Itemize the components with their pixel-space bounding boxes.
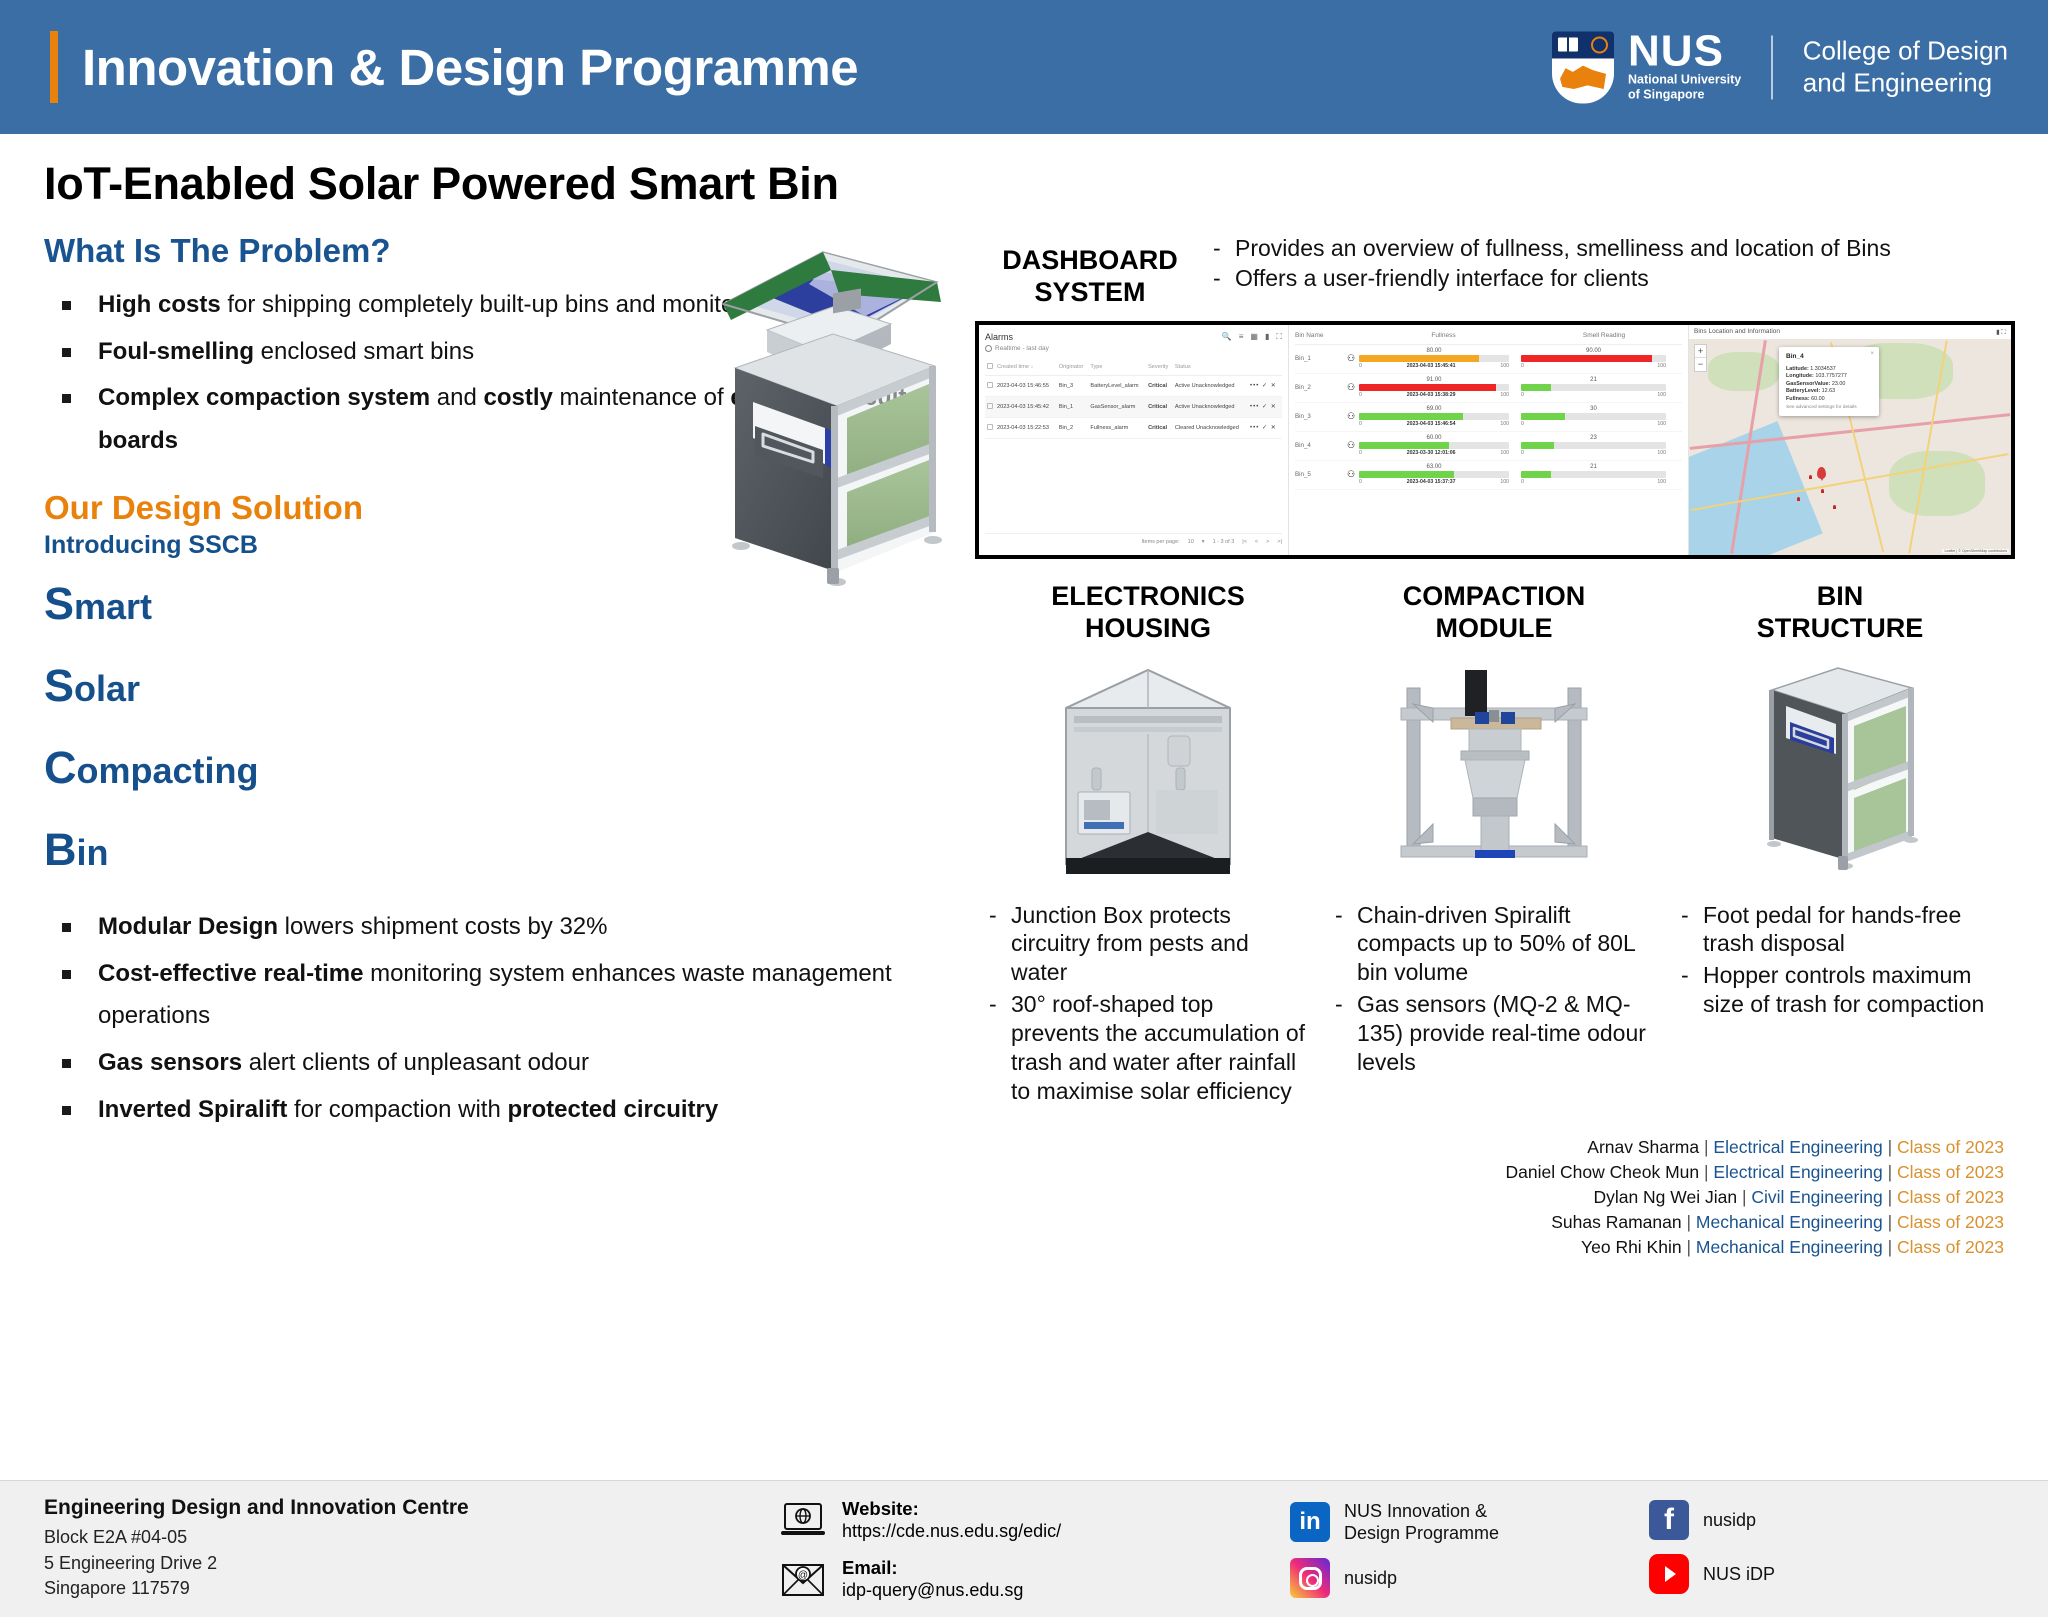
fullness-gauge: 69.0002023-04-03 15:46:54100	[1359, 406, 1509, 427]
author-dept: Civil Engineering	[1751, 1187, 1882, 1207]
module-title-line2: HOUSING	[989, 613, 1307, 645]
sscb-word: Solar	[44, 660, 945, 712]
footer-linkedin-label: NUS Innovation & Design Programme	[1344, 1500, 1499, 1545]
status-badge: Critical	[1146, 375, 1173, 396]
linkedin-line1: NUS Innovation &	[1344, 1500, 1499, 1522]
dashboard-title: DASHBOARD SYSTEM	[975, 230, 1205, 309]
list-item: Gas sensors alert clients of unpleasant …	[54, 1042, 945, 1085]
author-entry: Yeo Rhi Khin | Mechanical Engineering | …	[975, 1235, 2004, 1260]
module-bullets: -Chain-driven Spiralift compacts up to 5…	[1335, 901, 1653, 1078]
sscb-word: Bin	[44, 824, 945, 876]
author-dept: Electrical Engineering	[1713, 1162, 1882, 1182]
chevron-down-icon[interactable]: ▾	[1202, 539, 1205, 545]
alarms-panel: Alarms 🔍 ≡ ▦ ▮ ⛶ Realtime - last day Cre…	[979, 325, 1289, 555]
dashboard-bullet: -Offers a user-friendly interface for cl…	[1213, 264, 2028, 292]
footer-instagram-label: nusidp	[1344, 1567, 1397, 1589]
smell-gauge: 90.000100	[1521, 348, 1666, 369]
dash-marker: -	[1213, 234, 1223, 262]
footer-addr-line2: 5 Engineering Drive 2	[44, 1551, 780, 1577]
cell-originator: Bin_1	[1057, 396, 1089, 417]
bins-table-head: Bin Name Fullness Smell Reading	[1295, 332, 1682, 345]
header-title: Innovation & Design Programme	[82, 38, 858, 97]
nus-crest-icon	[1552, 31, 1614, 103]
alarms-column-header[interactable]: Type	[1088, 359, 1146, 376]
dashboard-bullet: -Provides an overview of fullness, smell…	[1213, 234, 2028, 262]
right-column: DASHBOARD SYSTEM -Provides an overview o…	[975, 210, 2048, 1448]
scale-max: 100	[1657, 421, 1666, 427]
reading-timestamp: 2023-04-03 15:38:29	[1407, 392, 1456, 398]
last-page-icon[interactable]: >|	[1277, 539, 1282, 545]
dash-marker: -	[1335, 901, 1345, 988]
fullness-value: 80.00	[1359, 348, 1509, 354]
cell-status: Cleared Unacknowledged	[1173, 417, 1248, 438]
columns-icon[interactable]: ▦	[1250, 332, 1258, 342]
popup-longitude: Longitude: 103.7757277	[1786, 373, 1872, 379]
fullness-value: 60.00	[1359, 435, 1509, 441]
logo-divider	[1771, 35, 1773, 99]
close-icon[interactable]: ×	[1870, 351, 1874, 357]
scale-min: 0	[1359, 450, 1362, 456]
popup-advanced-link[interactable]: See advanced settings for details	[1786, 405, 1872, 410]
module-bullet: -Chain-driven Spiralift compacts up to 5…	[1335, 901, 1653, 988]
scale-min: 0	[1359, 363, 1362, 369]
reading-timestamp: 2023-04-03 15:46:54	[1407, 421, 1456, 427]
cell-created-time: 2023-04-03 15:45:42	[995, 396, 1057, 417]
author-entry: Suhas Ramanan | Mechanical Engineering |…	[975, 1210, 2004, 1235]
bin-icon: ⚇	[1343, 382, 1359, 393]
map-zoom-controls[interactable]: + −	[1694, 344, 1707, 372]
footer-facebook-label: nusidp	[1703, 1509, 1756, 1531]
author-entry: Arnav Sharma | Electrical Engineering | …	[975, 1135, 2004, 1160]
row-checkbox[interactable]	[985, 417, 995, 438]
author-dept: Mechanical Engineering	[1696, 1237, 1883, 1257]
fullscreen-icon[interactable]: ⛶	[1276, 332, 1282, 342]
cell-type: GasSensor_alarm	[1088, 396, 1146, 417]
alarms-panel-title: Alarms	[985, 332, 1013, 342]
row-checkbox[interactable]	[985, 375, 995, 396]
select-all-checkbox[interactable]	[985, 359, 995, 376]
device-icon[interactable]: ▮	[1265, 332, 1269, 342]
first-page-icon[interactable]: |<	[1242, 539, 1247, 545]
smell-gauge: 210100	[1521, 377, 1666, 398]
zoom-in-button[interactable]: +	[1695, 345, 1706, 358]
fullness-gauge: 60.0002023-03-30 12:01:06100	[1359, 435, 1509, 456]
alarms-column-header[interactable]: Status	[1173, 359, 1248, 376]
smell-value: 21	[1521, 464, 1666, 470]
bullet-text: Hopper controls maximum size of trash fo…	[1703, 961, 1999, 1019]
list-item: Modular Design lowers shipment costs by …	[54, 906, 945, 949]
cell-status: Active Unacknowledged	[1173, 396, 1248, 417]
sscb-word: Compacting	[44, 742, 945, 794]
fullness-value: 91.00	[1359, 377, 1509, 383]
bin-name: Bin_2	[1295, 384, 1343, 391]
items-per-page-label: Items per page:	[1141, 539, 1179, 545]
footer-website-text: Website: https://cde.nus.edu.sg/edic/	[842, 1497, 1061, 1543]
table-row[interactable]: 2023-04-03 15:22:53Bin_2Fullness_alarmCr…	[985, 417, 1282, 438]
zoom-out-button[interactable]: −	[1695, 358, 1706, 371]
author-name: Daniel Chow Cheok Mun	[1506, 1162, 1700, 1182]
bin-icon: ⚇	[1343, 469, 1359, 480]
row-actions[interactable]: ••• ✓ ✕	[1248, 417, 1282, 438]
search-icon[interactable]: 🔍	[1222, 332, 1232, 342]
scale-min: 0	[1521, 363, 1524, 369]
left-column: What Is The Problem? High costs for ship…	[0, 210, 975, 1448]
linkedin-icon[interactable]: in	[1290, 1502, 1330, 1542]
author-year: Class of 2023	[1897, 1237, 2004, 1257]
footer-social: in NUS Innovation & Design Programme nus…	[1290, 1500, 2008, 1599]
bins-readings-panel: Bin Name Fullness Smell Reading Bin_1⚇80…	[1289, 325, 1689, 555]
footer-email-text: Email: idp-query@nus.edu.sg	[842, 1556, 1023, 1602]
bin-name: Bin_4	[1295, 442, 1343, 449]
scale-min: 0	[1359, 421, 1362, 427]
dash-marker: -	[1213, 264, 1223, 292]
youtube-icon[interactable]	[1649, 1554, 1689, 1594]
items-per-page-value[interactable]: 10	[1188, 539, 1194, 545]
alarms-table-head: Created time ↓OriginatorTypeSeverityStat…	[985, 359, 1282, 376]
alarms-column-header[interactable]: Created time ↓	[995, 359, 1057, 376]
popup-fullness: Fullness: 60.00	[1786, 396, 1872, 402]
module-title-line2: MODULE	[1335, 613, 1653, 645]
author-name: Suhas Ramanan	[1551, 1212, 1681, 1232]
dash-marker: -	[1335, 990, 1345, 1077]
fullness-value: 69.00	[1359, 406, 1509, 412]
scale-max: 100	[1500, 363, 1509, 369]
map-title: Bins Location and Information	[1694, 328, 1780, 336]
footer-linkedin-row[interactable]: in NUS Innovation & Design Programme	[1290, 1500, 1649, 1545]
dashboard-title-line1: DASHBOARD	[975, 244, 1205, 276]
module-compaction: COMPACTION MODULE	[1321, 581, 1667, 1110]
fullness-value: 63.00	[1359, 464, 1509, 470]
authors-list: Arnav Sharma | Electrical Engineering | …	[975, 1135, 2028, 1259]
scale-min: 0	[1521, 421, 1524, 427]
cell-created-time: 2023-04-03 15:22:53	[995, 417, 1057, 438]
module-bullet: -Foot pedal for hands-free trash disposa…	[1681, 901, 1999, 959]
dash-marker: -	[1681, 961, 1691, 1019]
footer-social-col2: f nusidp NUS iDP	[1649, 1500, 2008, 1599]
module-title: ELECTRONICS HOUSING	[989, 581, 1307, 645]
footer-contact: Website: https://cde.nus.edu.sg/edic/ @ …	[780, 1497, 1290, 1602]
bullet-text: Offers a user-friendly interface for cli…	[1235, 264, 1649, 292]
bin-icon: ⚇	[1343, 411, 1359, 422]
module-electronics-housing: ELECTRONICS HOUSING	[975, 581, 1321, 1110]
bin-name: Bin_1	[1295, 355, 1343, 362]
row-actions[interactable]: ••• ✓ ✕	[1248, 375, 1282, 396]
footer-youtube-label: NUS iDP	[1703, 1563, 1775, 1585]
alarms-pagination[interactable]: Items per page: 10 ▾ 1 - 3 of 3 |< < > >…	[985, 533, 1282, 545]
scale-max: 100	[1500, 479, 1509, 485]
footer-website-row[interactable]: Website: https://cde.nus.edu.sg/edic/	[780, 1497, 1290, 1543]
module-title-line1: BIN	[1681, 581, 1999, 613]
header-accent-bar	[50, 31, 58, 103]
author-dept: Mechanical Engineering	[1696, 1212, 1883, 1232]
alarms-column-header[interactable]: Originator	[1057, 359, 1089, 376]
author-name: Dylan Ng Wei Jian	[1593, 1187, 1737, 1207]
laptop-icon	[780, 1501, 826, 1539]
cell-created-time: 2023-04-03 15:46:55	[995, 375, 1057, 396]
module-title-line1: COMPACTION	[1335, 581, 1653, 613]
bullet-text: Gas sensors (MQ-2 & MQ-135) provide real…	[1357, 990, 1653, 1077]
status-badge: Critical	[1146, 396, 1173, 417]
page-title: IoT-Enabled Solar Powered Smart Bin	[44, 158, 2048, 210]
next-page-icon[interactable]: >	[1266, 539, 1269, 545]
bin-structure-image	[1681, 657, 1999, 887]
clock-icon	[985, 345, 992, 352]
module-bin-structure: BIN STRUCTURE	[1667, 581, 2013, 1110]
footer-website-url[interactable]: https://cde.nus.edu.sg/edic/	[842, 1520, 1061, 1543]
envelope-icon: @	[780, 1559, 826, 1599]
dash-marker: -	[989, 901, 999, 988]
module-bullet: -30° roof-shaped top prevents the accumu…	[989, 990, 1307, 1106]
bin-reading-row[interactable]: Bin_5⚇63.0002023-04-03 15:37:37100210100	[1295, 461, 1682, 490]
row-checkbox[interactable]	[985, 396, 995, 417]
smell-gauge: 210100	[1521, 464, 1666, 485]
scale-max: 100	[1500, 392, 1509, 398]
col-fullness: Fullness	[1361, 332, 1526, 339]
footer-addr-line3: Singapore 117579	[44, 1576, 780, 1602]
modules-section: ELECTRONICS HOUSING	[975, 581, 2028, 1110]
smell-gauge: 300100	[1521, 406, 1666, 427]
table-row[interactable]: 2023-04-03 15:45:42Bin_1GasSensor_alarmC…	[985, 396, 1282, 417]
col-smell: Smell Reading	[1526, 332, 1682, 339]
bin-reading-row[interactable]: Bin_1⚇80.0002023-04-03 15:45:4110090.000…	[1295, 345, 1682, 374]
scale-min: 0	[1521, 450, 1524, 456]
smell-value: 90.00	[1521, 348, 1666, 354]
scale-max: 100	[1657, 479, 1666, 485]
fullness-gauge: 80.0002023-04-03 15:45:41100	[1359, 348, 1509, 369]
bullet-text: 30° roof-shaped top prevents the accumul…	[1011, 990, 1307, 1106]
module-title-line1: ELECTRONICS	[989, 581, 1307, 613]
college-name: College of Design and Engineering	[1803, 35, 2008, 98]
map-attribution: Leaflet | © OpenStreetMap contributors	[1942, 549, 2009, 553]
popup-latitude: Latitude: 1.3034537	[1786, 366, 1872, 372]
module-bullets: -Foot pedal for hands-free trash disposa…	[1681, 901, 1999, 1020]
popup-battery-level: BatteryLevel: 12.63	[1786, 388, 1872, 394]
nus-logo: NUS National University of Singapore Col…	[1552, 30, 2008, 103]
filter-icon[interactable]: ≡	[1239, 332, 1244, 342]
nus-acronym: NUS	[1628, 30, 1741, 72]
footer-email-label: Email:	[842, 1557, 898, 1578]
alarms-column-header[interactable]: Severity	[1146, 359, 1173, 376]
bin-icon: ⚇	[1343, 440, 1359, 451]
svg-text:@: @	[798, 1570, 808, 1581]
prev-page-icon[interactable]: <	[1255, 539, 1258, 545]
author-year: Class of 2023	[1897, 1212, 2004, 1232]
module-bullet: -Hopper controls maximum size of trash f…	[1681, 961, 1999, 1019]
module-bullets: -Junction Box protects circuitry from pe…	[989, 901, 1307, 1107]
bin-reading-row[interactable]: Bin_4⚇60.0002023-03-30 12:01:06100230100	[1295, 432, 1682, 461]
author-name: Arnav Sharma	[1587, 1137, 1699, 1157]
table-row[interactable]: 2023-04-03 15:46:55Bin_3BatteryLevel_ala…	[985, 375, 1282, 396]
footer-address: Engineering Design and Innovation Centre…	[40, 1496, 780, 1602]
smell-value: 21	[1521, 377, 1666, 383]
module-bullet: -Gas sensors (MQ-2 & MQ-135) provide rea…	[1335, 990, 1653, 1077]
map-pin-icon[interactable]	[1817, 467, 1826, 479]
poster-body: What Is The Problem? High costs for ship…	[0, 210, 2048, 1448]
status-badge: Critical	[1146, 417, 1173, 438]
dashboard-screenshot[interactable]: Alarms 🔍 ≡ ▦ ▮ ⛶ Realtime - last day Cre…	[975, 321, 2015, 559]
electronics-housing-image	[989, 657, 1307, 887]
row-actions[interactable]: ••• ✓ ✕	[1248, 396, 1282, 417]
author-dept: Electrical Engineering	[1713, 1137, 1882, 1157]
author-name: Yeo Rhi Khin	[1581, 1237, 1682, 1257]
col-bin-name: Bin Name	[1295, 332, 1361, 339]
dash-marker: -	[989, 990, 999, 1106]
author-year: Class of 2023	[1897, 1137, 2004, 1157]
popup-gas-sensor: GasSensorValue: 23.00	[1786, 381, 1872, 387]
author-entry: Daniel Chow Cheok Mun | Electrical Engin…	[975, 1160, 2004, 1185]
alarms-actions-header	[1248, 359, 1282, 376]
module-bullet: -Junction Box protects circuitry from pe…	[989, 901, 1307, 988]
scale-max: 100	[1657, 450, 1666, 456]
alarms-toolbar[interactable]: 🔍 ≡ ▦ ▮ ⛶	[1222, 332, 1282, 342]
smell-gauge: 230100	[1521, 435, 1666, 456]
solution-list: Modular Design lowers shipment costs by …	[54, 906, 945, 1132]
alarms-subtitle-row: Realtime - last day	[985, 345, 1282, 352]
reading-timestamp: 2023-04-03 15:37:37	[1407, 479, 1456, 485]
fullness-gauge: 91.0002023-04-03 15:38:29100	[1359, 377, 1509, 398]
scale-min: 0	[1521, 479, 1524, 485]
dashboard-intro: DASHBOARD SYSTEM -Provides an overview o…	[975, 230, 2028, 309]
smell-value: 23	[1521, 435, 1666, 441]
bullet-text: Provides an overview of fullness, smelli…	[1235, 234, 1891, 262]
footer-org-name: Engineering Design and Innovation Centre	[44, 1496, 780, 1520]
alarms-table-body: 2023-04-03 15:46:55Bin_3BatteryLevel_ala…	[985, 375, 1282, 438]
dashboard-title-line2: SYSTEM	[975, 276, 1205, 308]
bins-rows: Bin_1⚇80.0002023-04-03 15:45:4110090.000…	[1295, 345, 1682, 490]
map-bin-popup: × Bin_4 Latitude: 1.3034537 Longitude: 1…	[1779, 347, 1879, 416]
sscb-acronym-list: SmartSolarCompactingBin	[44, 578, 945, 876]
reading-timestamp: 2023-03-30 12:01:06	[1407, 450, 1456, 456]
footer-youtube-row[interactable]: NUS iDP	[1649, 1554, 2008, 1594]
scale-max: 100	[1500, 421, 1509, 427]
scale-min: 0	[1521, 392, 1524, 398]
map-header: Bins Location and Information ▮ ⛶	[1689, 325, 2011, 339]
reading-timestamp: 2023-04-03 15:45:41	[1407, 363, 1456, 369]
footer-instagram-row[interactable]: nusidp	[1290, 1558, 1649, 1598]
cell-status: Active Unacknowledged	[1173, 375, 1248, 396]
facebook-icon[interactable]: f	[1649, 1500, 1689, 1540]
cell-originator: Bin_2	[1057, 417, 1089, 438]
cell-originator: Bin_3	[1057, 375, 1089, 396]
scale-max: 100	[1657, 392, 1666, 398]
footer-website-label: Website:	[842, 1498, 919, 1519]
footer-email-row[interactable]: @ Email: idp-query@nus.edu.sg	[780, 1556, 1290, 1602]
alarms-table: Created time ↓OriginatorTypeSeverityStat…	[985, 359, 1282, 439]
poster-footer: Engineering Design and Innovation Centre…	[0, 1480, 2048, 1617]
list-item: Cost-effective real-time monitoring syst…	[54, 953, 945, 1038]
nus-fullname-line1: National University	[1628, 72, 1741, 88]
alarms-subtitle: Realtime - last day	[995, 345, 1049, 352]
scale-min: 0	[1359, 392, 1362, 398]
bin-icon: ⚇	[1343, 353, 1359, 364]
dash-marker: -	[1681, 901, 1691, 959]
footer-facebook-row[interactable]: f nusidp	[1649, 1500, 2008, 1540]
dashboard-bullets: -Provides an overview of fullness, smell…	[1213, 230, 2028, 294]
linkedin-line2: Design Programme	[1344, 1522, 1499, 1544]
author-entry: Dylan Ng Wei Jian | Civil Engineering | …	[975, 1185, 2004, 1210]
college-line1: College of Design	[1803, 35, 2008, 67]
footer-email-address[interactable]: idp-query@nus.edu.sg	[842, 1579, 1023, 1602]
module-title: COMPACTION MODULE	[1335, 581, 1653, 645]
poster-header: Innovation & Design Programme NUS Nation…	[0, 0, 2048, 134]
compaction-module-image	[1335, 657, 1653, 887]
module-title-line2: STRUCTURE	[1681, 613, 1999, 645]
nus-wordmark: NUS National University of Singapore	[1628, 30, 1741, 103]
author-year: Class of 2023	[1897, 1187, 2004, 1207]
author-year: Class of 2023	[1897, 1162, 2004, 1182]
instagram-icon[interactable]	[1290, 1558, 1330, 1598]
college-line2: and Engineering	[1803, 67, 2008, 99]
module-title: BIN STRUCTURE	[1681, 581, 1999, 645]
bin-name: Bin_5	[1295, 471, 1343, 478]
footer-addr-line1: Block E2A #04-05	[44, 1525, 780, 1551]
pagination-range: 1 - 3 of 3	[1213, 539, 1235, 545]
scale-max: 100	[1500, 450, 1509, 456]
bullet-text: Junction Box protects circuitry from pes…	[1011, 901, 1307, 988]
bin-name: Bin_3	[1295, 413, 1343, 420]
fullness-gauge: 63.0002023-04-03 15:37:37100	[1359, 464, 1509, 485]
list-item: Inverted Spiralift for compaction with p…	[54, 1089, 945, 1132]
bullet-text: Foot pedal for hands-free trash disposal	[1703, 901, 1999, 959]
popup-bin-name: Bin_4	[1786, 353, 1872, 360]
bin-reading-row[interactable]: Bin_3⚇69.0002023-04-03 15:46:54100300100	[1295, 403, 1682, 432]
smart-bin-render-image	[705, 220, 955, 620]
nus-fullname-line2: of Singapore	[1628, 88, 1741, 104]
footer-social-col1: in NUS Innovation & Design Programme nus…	[1290, 1500, 1649, 1599]
scale-min: 0	[1359, 479, 1362, 485]
bins-map-panel[interactable]: Bins Location and Information ▮ ⛶	[1689, 325, 2011, 555]
alarms-header: Alarms 🔍 ≡ ▦ ▮ ⛶	[985, 332, 1282, 342]
scale-max: 100	[1657, 363, 1666, 369]
smell-value: 30	[1521, 406, 1666, 412]
bin-reading-row[interactable]: Bin_2⚇91.0002023-04-03 15:38:29100210100	[1295, 374, 1682, 403]
cell-type: Fullness_alarm	[1088, 417, 1146, 438]
cell-type: BatteryLevel_alarm	[1088, 375, 1146, 396]
map-header-icons[interactable]: ▮ ⛶	[1996, 328, 2006, 336]
bullet-text: Chain-driven Spiralift compacts up to 50…	[1357, 901, 1653, 988]
